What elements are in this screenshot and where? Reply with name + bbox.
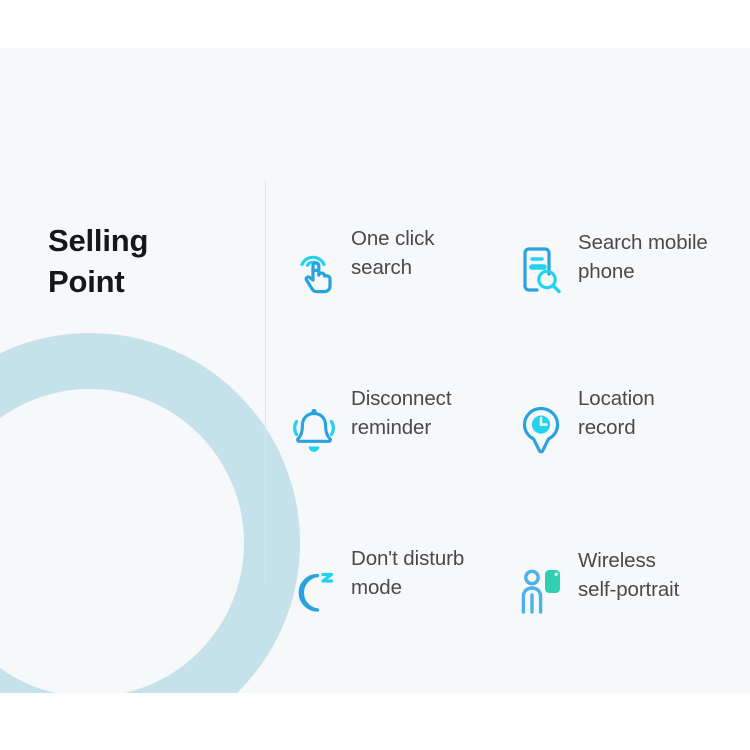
feature-text-block: Search mobile phone: [578, 224, 708, 286]
feature-text-block: Disconnect reminder: [351, 384, 451, 442]
feature-label: Disconnect reminder: [351, 387, 451, 439]
feature-label: Wireless self-portrait: [578, 549, 679, 601]
feature-text-block: Location record: [578, 384, 655, 442]
feature-label: Search mobile phone: [578, 231, 708, 283]
vertical-divider: [265, 181, 266, 583]
tap-click-icon: [288, 240, 340, 302]
person-phone-icon: [515, 560, 567, 622]
feature-item-search-mobile-phone: Search mobile phone: [513, 224, 750, 384]
moon-sleep-icon: [288, 560, 340, 622]
location-pin-clock-icon: [515, 400, 567, 462]
page-title: Selling Point: [48, 220, 248, 302]
feature-label: One click search: [351, 227, 434, 279]
feature-label: Location record: [578, 387, 655, 439]
feature-text-block: One click search: [351, 224, 434, 282]
feature-item-disconnect-reminder: Disconnect reminder: [288, 384, 513, 544]
feature-label: Don't disturb mode: [351, 547, 464, 599]
page-title-line2: Point: [48, 261, 248, 302]
page-title-line1: Selling: [48, 220, 248, 261]
content-panel: Selling Point One click search: [0, 48, 750, 693]
feature-item-dont-disturb-mode: Don't disturb mode: [288, 544, 513, 693]
feature-item-one-click-search: One click search: [288, 224, 513, 384]
feature-text-block: Don't disturb mode: [351, 544, 464, 602]
feature-grid: One click search Search mobile pho: [288, 224, 750, 693]
phone-search-icon: [515, 240, 567, 302]
feature-item-location-record: Location record: [513, 384, 750, 544]
feature-text-block: Wireless self-portrait: [578, 544, 679, 604]
ringing-bell-icon: [288, 400, 340, 462]
promo-banner: Selling Point One click search: [0, 0, 750, 750]
feature-item-wireless-self-portrait: Wireless self-portrait: [513, 544, 750, 693]
decorative-arc-ring: [0, 333, 300, 693]
